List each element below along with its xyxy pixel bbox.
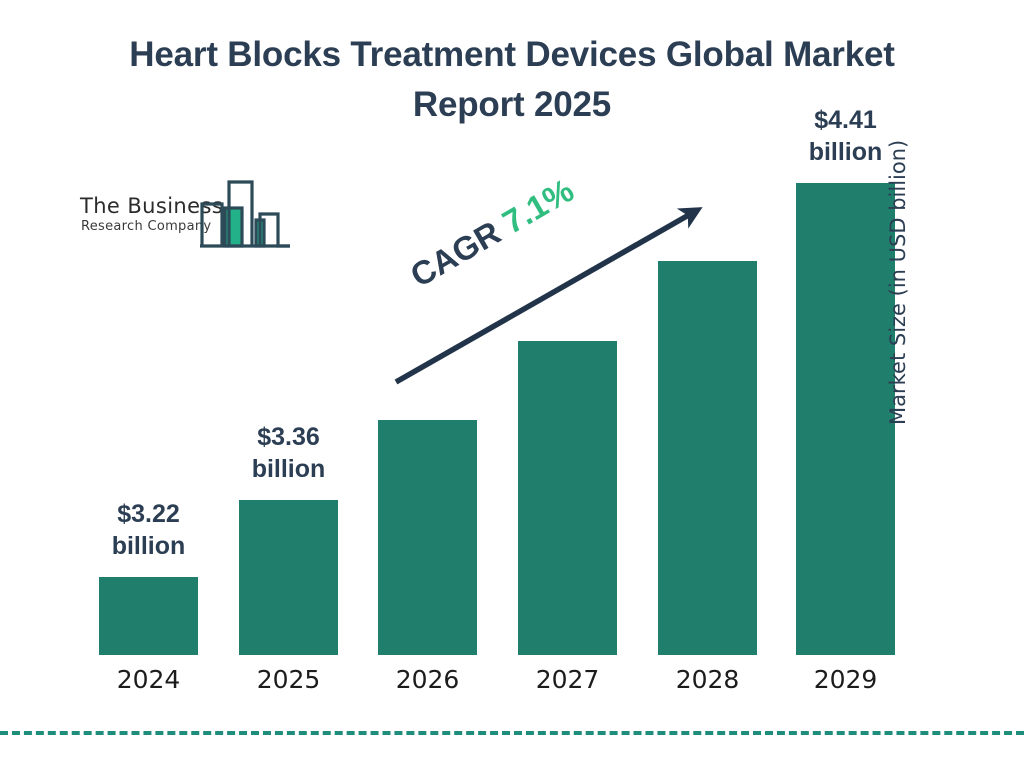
bar-2024: [99, 577, 198, 655]
company-logo: The Business Research Company: [78, 176, 288, 254]
logo-text-secondary: Research Company: [81, 219, 211, 234]
bar-chart-logo-mark: [200, 176, 290, 254]
bar-value-amount: $3.22: [59, 499, 239, 531]
x-tick-label-2026: 2026: [358, 665, 498, 694]
y-axis-title: Market Size (in USD billion): [886, 85, 910, 425]
x-tick-label-2028: 2028: [638, 665, 778, 694]
x-tick-label-2027: 2027: [498, 665, 638, 694]
bar-value-label-2024: $3.22billion: [59, 499, 239, 562]
bar-value-amount: $3.36: [199, 422, 379, 454]
x-tick-label-2024: 2024: [79, 665, 219, 694]
bar-value-unit: billion: [199, 454, 379, 486]
bar-value-label-2025: $3.36billion: [199, 422, 379, 485]
footer-divider: [0, 731, 1024, 735]
bar-value-unit: billion: [59, 531, 239, 563]
x-tick-label-2029: 2029: [776, 665, 916, 694]
bar-2029: [796, 183, 895, 655]
x-tick-label-2025: 2025: [219, 665, 359, 694]
bar-2026: [378, 420, 477, 655]
chart-canvas: Heart Blocks Treatment Devices Global Ma…: [0, 0, 1024, 768]
bar-2025: [239, 500, 338, 655]
